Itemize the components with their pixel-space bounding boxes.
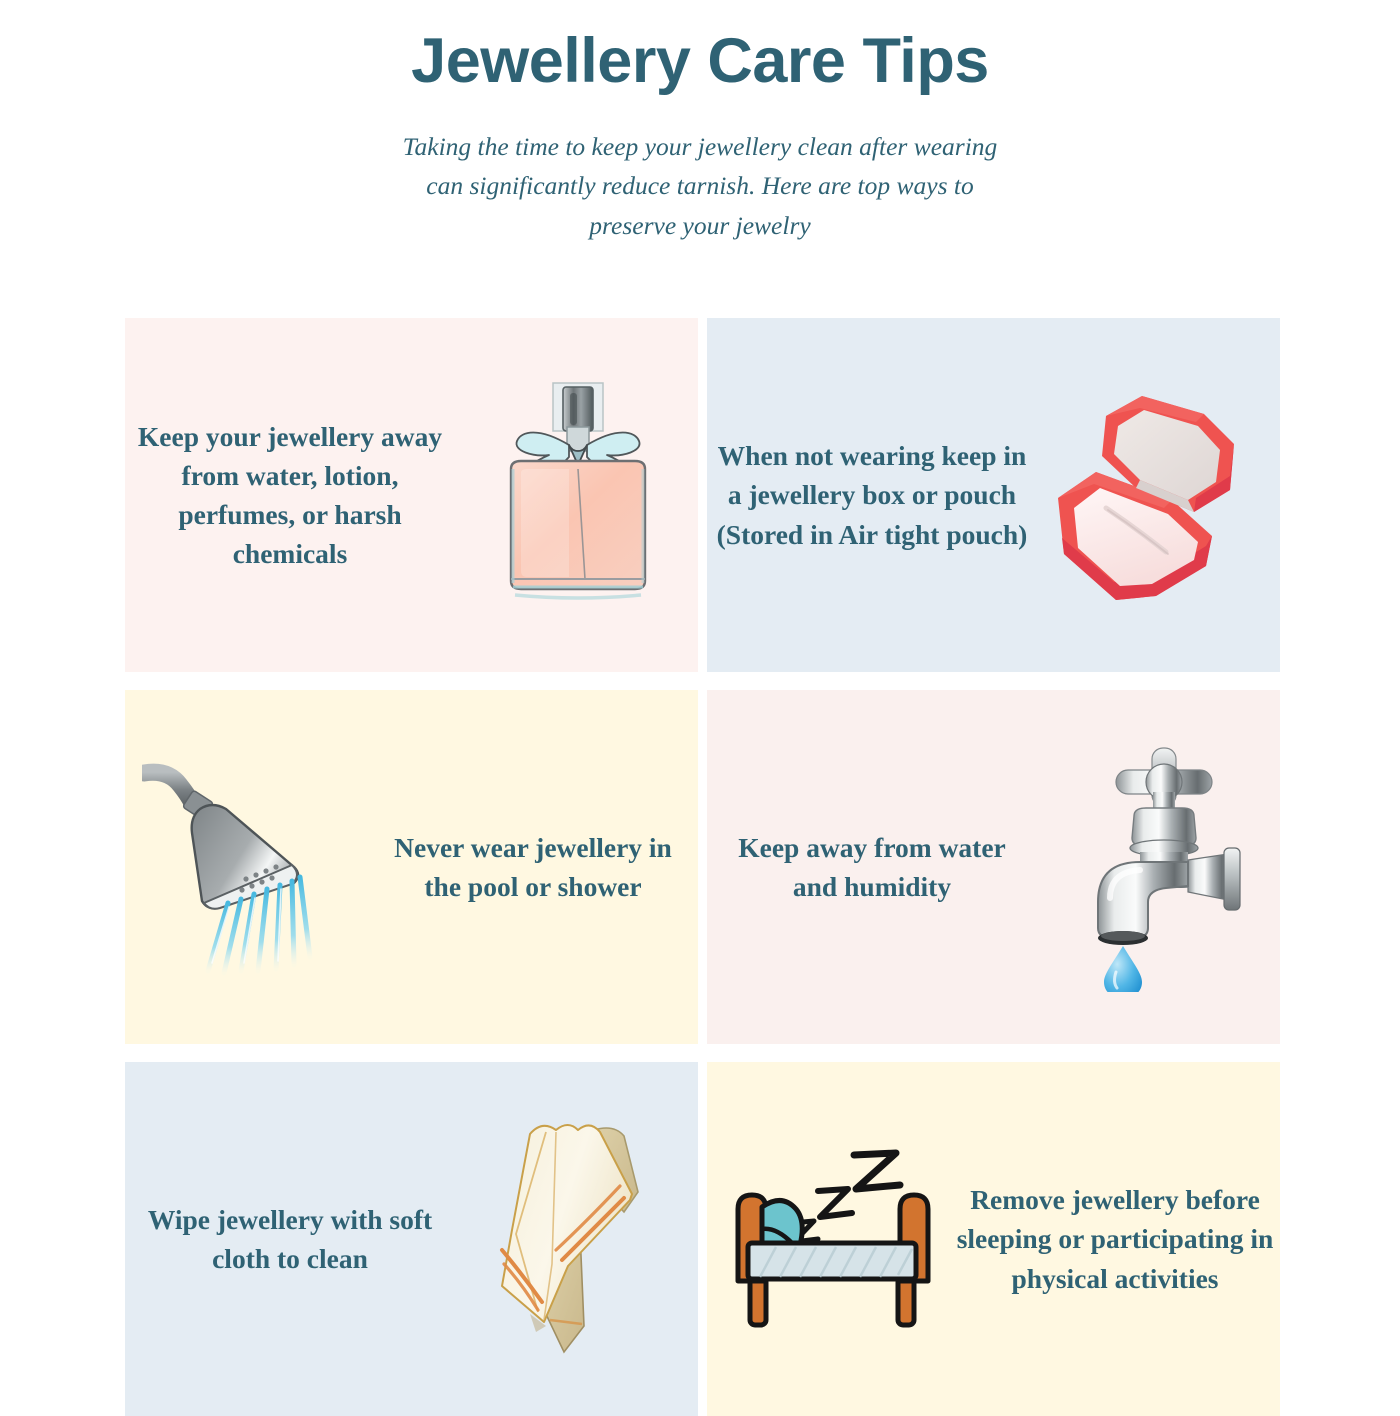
tips-grid: Keep your jewellery away from water, lot… [125,318,1280,1416]
water-faucet-icon [1037,690,1280,1044]
tip-card-shower[interactable]: Never wear jewellery in the pool or show… [125,690,698,1044]
page-title: Jewellery Care Tips [0,26,1400,97]
header: Jewellery Care Tips Taking the time to k… [0,0,1400,246]
sleeping-bed-icon [707,1062,950,1416]
tip-card-perfume[interactable]: Keep your jewellery away from water, lot… [125,318,698,672]
tip-text: Keep your jewellery away from water, lot… [125,417,455,573]
tip-card-faucet[interactable]: Keep away from water and humidity [707,690,1280,1044]
tip-card-bed[interactable]: Remove jewellery before sleeping or part… [707,1062,1280,1416]
tip-text: Never wear jewellery in the pool or show… [368,828,698,906]
tip-text: Wipe jewellery with soft cloth to clean [125,1200,455,1278]
page-subtitle: Taking the time to keep your jewellery c… [390,127,1010,246]
tip-text: Remove jewellery before sleeping or part… [950,1180,1280,1297]
perfume-bottle-icon [455,318,698,672]
cleaning-cloth-icon [455,1062,698,1416]
open-ring-box-icon [1037,318,1280,672]
tip-card-cloth[interactable]: Wipe jewellery with soft cloth to clean [125,1062,698,1416]
tip-card-jewellery-box[interactable]: When not wearing keep in a jewellery box… [707,318,1280,672]
tip-text: When not wearing keep in a jewellery box… [707,436,1037,553]
infographic-page: Jewellery Care Tips Taking the time to k… [0,0,1400,1400]
shower-head-icon [125,690,368,1044]
tip-text: Keep away from water and humidity [707,828,1037,906]
